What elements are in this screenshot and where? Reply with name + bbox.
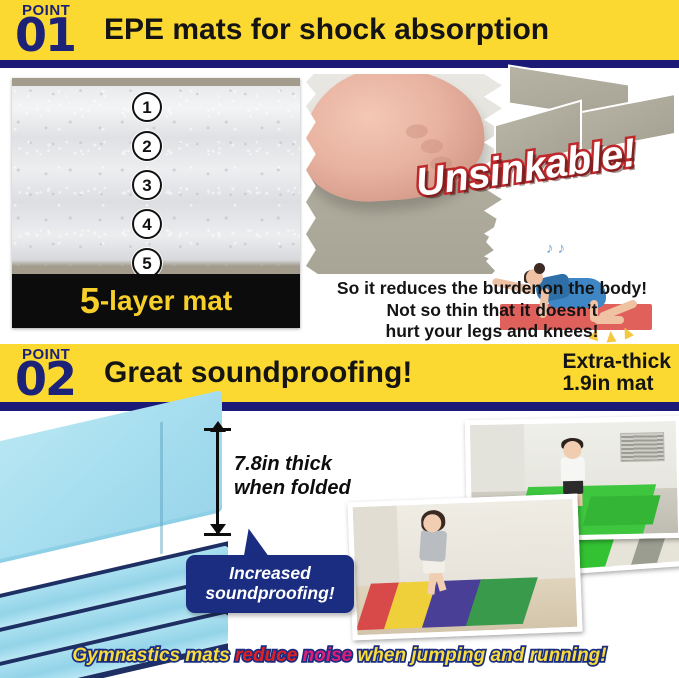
point-01-badge: POINT 01 — [0, 0, 100, 60]
infographic-page: POINT 01 EPE mats for shock absorption 1… — [0, 0, 679, 678]
layer-number-3: 3 — [132, 170, 162, 200]
point-01-number: 01 — [15, 12, 75, 58]
foam-cross-section-photo: 1 2 3 4 5 5 -layer mat — [12, 78, 300, 328]
point-02-banner: POINT 02 Great soundproofing! Extra-thic… — [0, 344, 679, 402]
point-02-subtitle: Extra-thick 1.9in mat — [562, 351, 679, 396]
layer-number-1: 1 — [132, 92, 162, 122]
girl-running-on-rainbow-mat-photo — [347, 494, 582, 641]
dimension-label-line-2: when folded — [234, 476, 351, 500]
point-01-title: EPE mats for shock absorption — [100, 15, 679, 45]
copy-line-1: So it reduces the burdenon the body! — [312, 278, 672, 300]
dimension-label-line-1: 7.8in thick — [234, 452, 351, 476]
bottom-segment-4: when jumping and running! — [358, 645, 607, 666]
callout-line-2: soundproofing! — [194, 584, 346, 604]
layer-number-list: 1 2 3 4 5 — [132, 92, 162, 278]
foam-caption-text: -layer mat — [100, 287, 232, 315]
section-01-body: 1 2 3 4 5 5 -layer mat Unsinkable — [0, 68, 679, 340]
section-02-body: 7.8in thick when folded — [0, 412, 679, 678]
point-02-badge: POINT 02 — [0, 344, 100, 402]
yoga-hair-bun — [534, 263, 545, 274]
point-02-number: 02 — [15, 356, 75, 402]
wall-vent-icon — [621, 432, 665, 462]
point-02-title: Great soundproofing! — [100, 358, 562, 388]
foam-caption-bar: 5 -layer mat — [12, 274, 300, 328]
foam-caption-number: 5 — [80, 283, 100, 319]
bottom-segment-3: noise — [303, 645, 358, 666]
dimension-bottom-cap — [204, 533, 231, 536]
yoga-note-icon: ♪ ♪ — [546, 240, 565, 257]
point-02-underline — [0, 402, 679, 411]
dimension-line — [216, 430, 219, 534]
bottom-banner: Gymnastics mats reduce noise when jumpin… — [0, 646, 679, 665]
point-01-banner: POINT 01 EPE mats for shock absorption — [0, 0, 679, 60]
point-02-subtitle-line-1: Extra-thick — [562, 351, 671, 373]
copy-line-2: Not so thin that it doesn’t — [312, 300, 672, 322]
bottom-segment-2: reduce — [235, 645, 303, 666]
bottom-segment-1: Gymnastics mats — [72, 645, 235, 666]
dimension-arrow-up-icon — [210, 421, 226, 432]
callout-line-1: Increased — [194, 564, 346, 584]
dimension-label: 7.8in thick when folded — [234, 452, 351, 500]
mat-fold-seam — [160, 422, 163, 555]
point-02-subtitle-line-2: 1.9in mat — [562, 373, 671, 395]
layer-number-4: 4 — [132, 209, 162, 239]
layer-number-2: 2 — [132, 131, 162, 161]
soundproofing-callout: Increased soundproofing! — [186, 555, 354, 613]
section-01-copy: So it reduces the burdenon the body! Not… — [312, 278, 672, 343]
copy-line-3: hurt your legs and knees! — [312, 321, 672, 343]
